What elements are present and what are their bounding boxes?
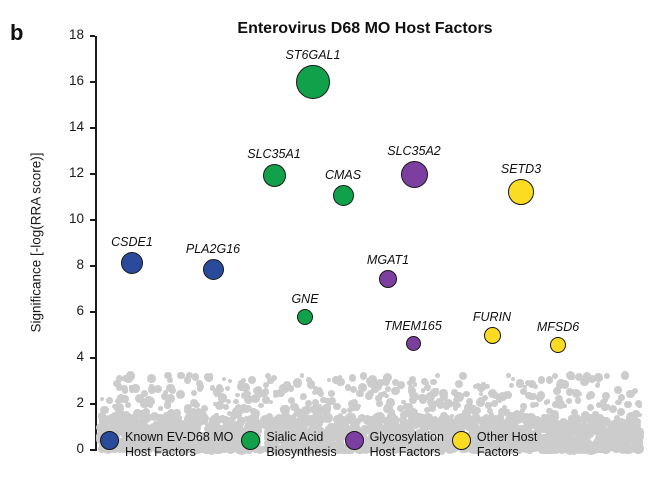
- y-tick-label: 4: [54, 349, 84, 364]
- y-tick-label: 0: [54, 441, 84, 456]
- y-tick-label: 2: [54, 395, 84, 410]
- gene-marker[interactable]: [508, 179, 534, 205]
- legend-swatch-1: [241, 431, 260, 450]
- legend-label: Other Host Factors: [477, 430, 537, 459]
- gene-label: CSDE1: [111, 235, 153, 249]
- gene-label: SETD3: [501, 162, 541, 176]
- gene-label: MGAT1: [367, 253, 409, 267]
- y-tick-mark: [90, 81, 95, 83]
- gene-marker[interactable]: [297, 309, 313, 325]
- gene-label: CMAS: [325, 168, 361, 182]
- legend-item[interactable]: Other Host Factors: [452, 430, 537, 459]
- y-tick-label: 6: [54, 303, 84, 318]
- legend-label: Glycosylation Host Factors: [370, 430, 444, 459]
- y-tick-mark: [90, 265, 95, 267]
- gene-marker[interactable]: [263, 164, 286, 187]
- y-tick-mark: [90, 311, 95, 313]
- gene-marker[interactable]: [406, 336, 421, 351]
- y-tick-label: 16: [54, 73, 84, 88]
- y-axis-title: Significance [-log(RRA score)]: [29, 93, 44, 393]
- chart-legend: Known EV-D68 MO Host FactorsSialic Acid …: [100, 430, 645, 478]
- y-tick-mark: [90, 219, 95, 221]
- y-tick-label: 14: [54, 119, 84, 134]
- gene-marker[interactable]: [296, 65, 330, 99]
- y-tick-label: 12: [54, 165, 84, 180]
- legend-item[interactable]: Sialic Acid Biosynthesis: [241, 430, 336, 459]
- chart-title: Enterovirus D68 MO Host Factors: [100, 20, 630, 38]
- legend-label: Sialic Acid Biosynthesis: [266, 430, 336, 459]
- panel-label: b: [10, 20, 23, 46]
- legend-item[interactable]: Known EV-D68 MO Host Factors: [100, 430, 233, 459]
- gene-label: ST6GAL1: [286, 48, 341, 62]
- gene-marker[interactable]: [401, 161, 428, 188]
- gene-label: SLC35A2: [387, 144, 441, 158]
- plot-area: CSDE1PLA2G16ST6GAL1SLC35A1CMASGNESLC35A2…: [0, 0, 655, 484]
- legend-label: Known EV-D68 MO Host Factors: [125, 430, 233, 459]
- gene-marker[interactable]: [484, 327, 501, 344]
- figure-panel-b: b Enterovirus D68 MO Host Factors Signif…: [0, 0, 655, 484]
- legend-item[interactable]: Glycosylation Host Factors: [345, 430, 444, 459]
- legend-swatch-3: [452, 431, 471, 450]
- gene-marker[interactable]: [121, 252, 143, 274]
- y-tick-mark: [90, 127, 95, 129]
- legend-swatch-0: [100, 431, 119, 450]
- gene-marker[interactable]: [550, 337, 566, 353]
- gene-label: SLC35A1: [247, 147, 301, 161]
- y-tick-mark: [90, 403, 95, 405]
- gene-label: GNE: [291, 292, 318, 306]
- y-tick-mark: [90, 357, 95, 359]
- y-tick-label: 10: [54, 211, 84, 226]
- gene-label: MFSD6: [537, 320, 579, 334]
- gene-label: FURIN: [473, 310, 511, 324]
- y-tick-mark: [90, 173, 95, 175]
- y-tick-label: 8: [54, 257, 84, 272]
- gene-marker[interactable]: [203, 259, 224, 280]
- legend-swatch-2: [345, 431, 364, 450]
- background-gene-cloud: [0, 0, 655, 484]
- y-tick-mark: [90, 449, 95, 451]
- gene-marker[interactable]: [333, 185, 354, 206]
- gene-label: TMEM165: [384, 319, 442, 333]
- y-tick-mark: [90, 35, 95, 37]
- y-tick-label: 18: [54, 27, 84, 42]
- gene-label: PLA2G16: [186, 242, 240, 256]
- gene-marker[interactable]: [379, 270, 397, 288]
- y-axis-spine: [95, 36, 97, 451]
